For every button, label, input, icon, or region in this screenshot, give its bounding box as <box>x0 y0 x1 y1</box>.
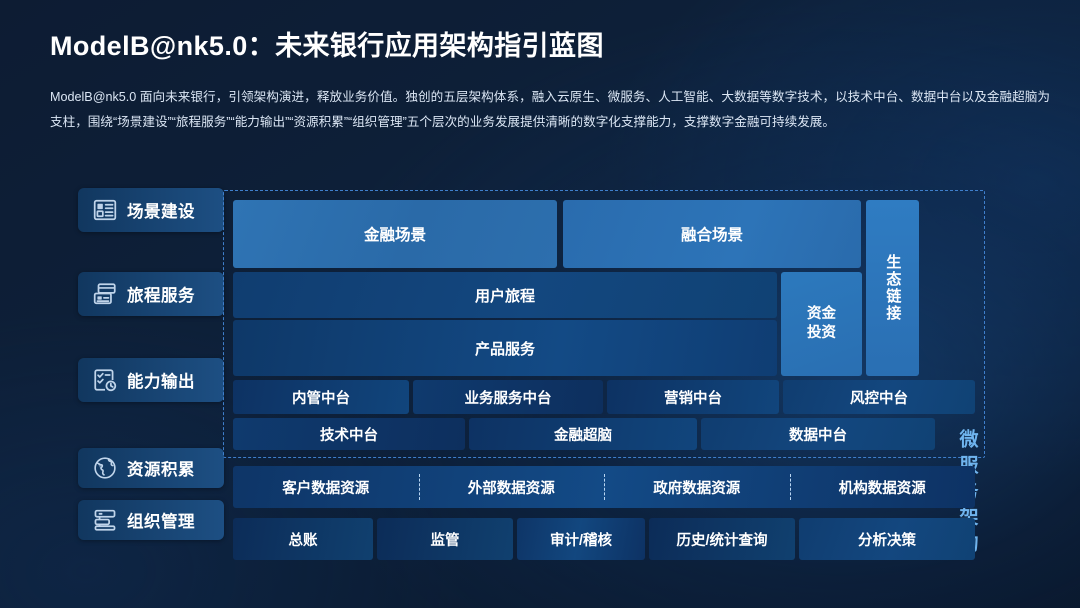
card-service-icon <box>92 281 118 307</box>
rail-item-label: 旅程服务 <box>127 282 195 306</box>
block-label: 融合场景 <box>681 223 743 245</box>
block-risk-control-platform[interactable]: 风控中台 <box>783 380 975 414</box>
block-label: 机构数据资源 <box>839 477 926 498</box>
org-cell-analysis-decision[interactable]: 分析决策 <box>799 518 975 560</box>
block-label: 生态链接 <box>885 254 901 322</box>
block-label: 业务服务中台 <box>465 387 552 408</box>
rail-item-label: 场景建设 <box>127 198 195 222</box>
resource-cell-external[interactable]: 外部数据资源 <box>419 466 605 508</box>
block-user-journey[interactable]: 用户旅程 <box>233 272 777 318</box>
org-cell-history-query[interactable]: 历史/统计查询 <box>649 518 795 560</box>
dashboard-layout-icon <box>92 197 118 223</box>
page-intro-paragraph: ModelB@nk5.0 面向未来银行，引领架构演进，释放业务价值。独创的五层架… <box>50 85 1050 134</box>
block-label: 内管中台 <box>292 387 350 408</box>
block-label: 外部数据资源 <box>468 477 555 498</box>
org-cell-regulation[interactable]: 监管 <box>377 518 513 560</box>
block-label: 金融场景 <box>364 223 426 245</box>
block-ecosystem-link[interactable]: 生态链接 <box>866 200 919 376</box>
block-label: 客户数据资源 <box>282 477 369 498</box>
block-label: 风控中台 <box>850 387 908 408</box>
architecture-diagram: 场景建设 旅程服务 <box>0 178 1080 578</box>
block-label: 金融超脑 <box>554 424 612 445</box>
resource-cell-institution[interactable]: 机构数据资源 <box>790 466 976 508</box>
block-technology-platform[interactable]: 技术中台 <box>233 418 465 450</box>
block-capital-investment[interactable]: 资金投资 <box>781 272 862 376</box>
rail-item-journey-service[interactable]: 旅程服务 <box>78 272 224 316</box>
organization-management-row: 总账 监管 审计/稽核 历史/统计查询 分析决策 <box>233 518 975 560</box>
page-header: ModelB@nk5.0：未来银行应用架构指引蓝图 ModelB@nk5.0 面… <box>50 24 1050 134</box>
block-marketing-platform[interactable]: 营销中台 <box>607 380 779 414</box>
org-server-icon <box>92 507 118 533</box>
rail-item-organization-management[interactable]: 组织管理 <box>78 500 224 540</box>
checklist-clock-icon <box>92 367 118 393</box>
block-financial-super-brain[interactable]: 金融超脑 <box>469 418 697 450</box>
block-label: 总账 <box>289 529 318 550</box>
page-title: ModelB@nk5.0：未来银行应用架构指引蓝图 <box>50 24 1050 63</box>
block-label: 资金投资 <box>807 305 836 343</box>
rail-item-label: 资源积累 <box>127 456 195 480</box>
org-cell-general-ledger[interactable]: 总账 <box>233 518 373 560</box>
block-label: 政府数据资源 <box>653 477 740 498</box>
block-label: 技术中台 <box>320 424 378 445</box>
block-label: 营销中台 <box>664 387 722 408</box>
block-integrated-scene[interactable]: 融合场景 <box>563 200 861 268</box>
rail-item-label: 能力输出 <box>127 368 195 392</box>
block-financial-scene[interactable]: 金融场景 <box>233 200 557 268</box>
block-internal-management-platform[interactable]: 内管中台 <box>233 380 409 414</box>
block-business-service-platform[interactable]: 业务服务中台 <box>413 380 603 414</box>
block-label: 分析决策 <box>858 529 916 550</box>
block-label: 监管 <box>431 529 460 550</box>
rail-item-resource-accumulation[interactable]: 资源积累 <box>78 448 224 488</box>
block-data-platform[interactable]: 数据中台 <box>701 418 935 450</box>
block-label: 用户旅程 <box>475 285 535 306</box>
block-product-service[interactable]: 产品服务 <box>233 320 777 376</box>
block-label: 审计/稽核 <box>550 529 612 550</box>
org-cell-audit[interactable]: 审计/稽核 <box>517 518 645 560</box>
rail-item-capability-output[interactable]: 能力输出 <box>78 358 224 402</box>
layer-rail: 场景建设 旅程服务 <box>78 178 224 568</box>
block-label: 数据中台 <box>789 424 847 445</box>
globe-icon <box>92 455 118 481</box>
resource-cell-customer[interactable]: 客户数据资源 <box>233 466 419 508</box>
architecture-blocks: 金融场景 融合场景 生态链接 用户旅程 产品服务 资金投资 内管中台 业务服务中… <box>233 200 975 448</box>
block-label: 历史/统计查询 <box>676 529 767 550</box>
resource-accumulation-row: 客户数据资源 外部数据资源 政府数据资源 机构数据资源 <box>233 466 975 508</box>
block-label: 产品服务 <box>475 338 535 359</box>
rail-item-scene-building[interactable]: 场景建设 <box>78 188 224 232</box>
resource-cell-government[interactable]: 政府数据资源 <box>604 466 790 508</box>
rail-item-label: 组织管理 <box>127 508 195 532</box>
